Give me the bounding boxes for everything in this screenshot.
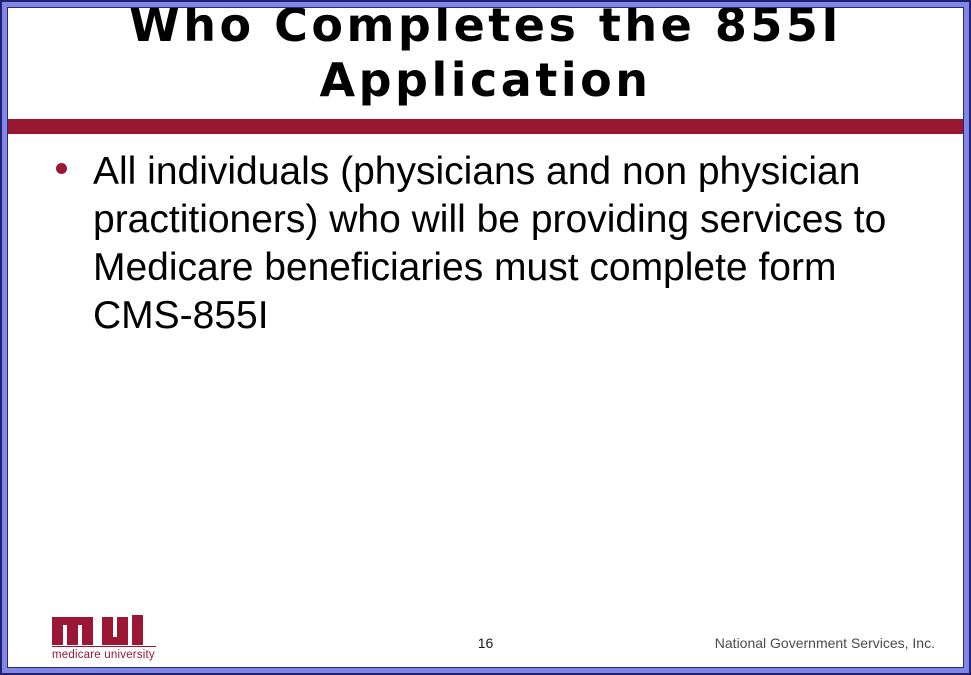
slide-title: Who Completes the 855I Application — [8, 0, 963, 108]
slide-canvas: Who Completes the 855I Application All i… — [0, 0, 971, 675]
slide-title-line-2: Application — [8, 53, 963, 108]
slide-footer: medicare university 16 National Governme… — [0, 595, 971, 675]
bullet-dot-icon — [56, 163, 67, 174]
footer-organization: National Government Services, Inc. — [715, 635, 935, 651]
bullet-item-text: All individuals (physicians and non phys… — [93, 148, 936, 340]
slide-title-line-1: Who Completes the 855I — [8, 0, 963, 53]
title-divider-rule — [8, 119, 964, 134]
slide-body: All individuals (physicians and non phys… — [56, 148, 936, 340]
bullet-item: All individuals (physicians and non phys… — [56, 148, 936, 340]
